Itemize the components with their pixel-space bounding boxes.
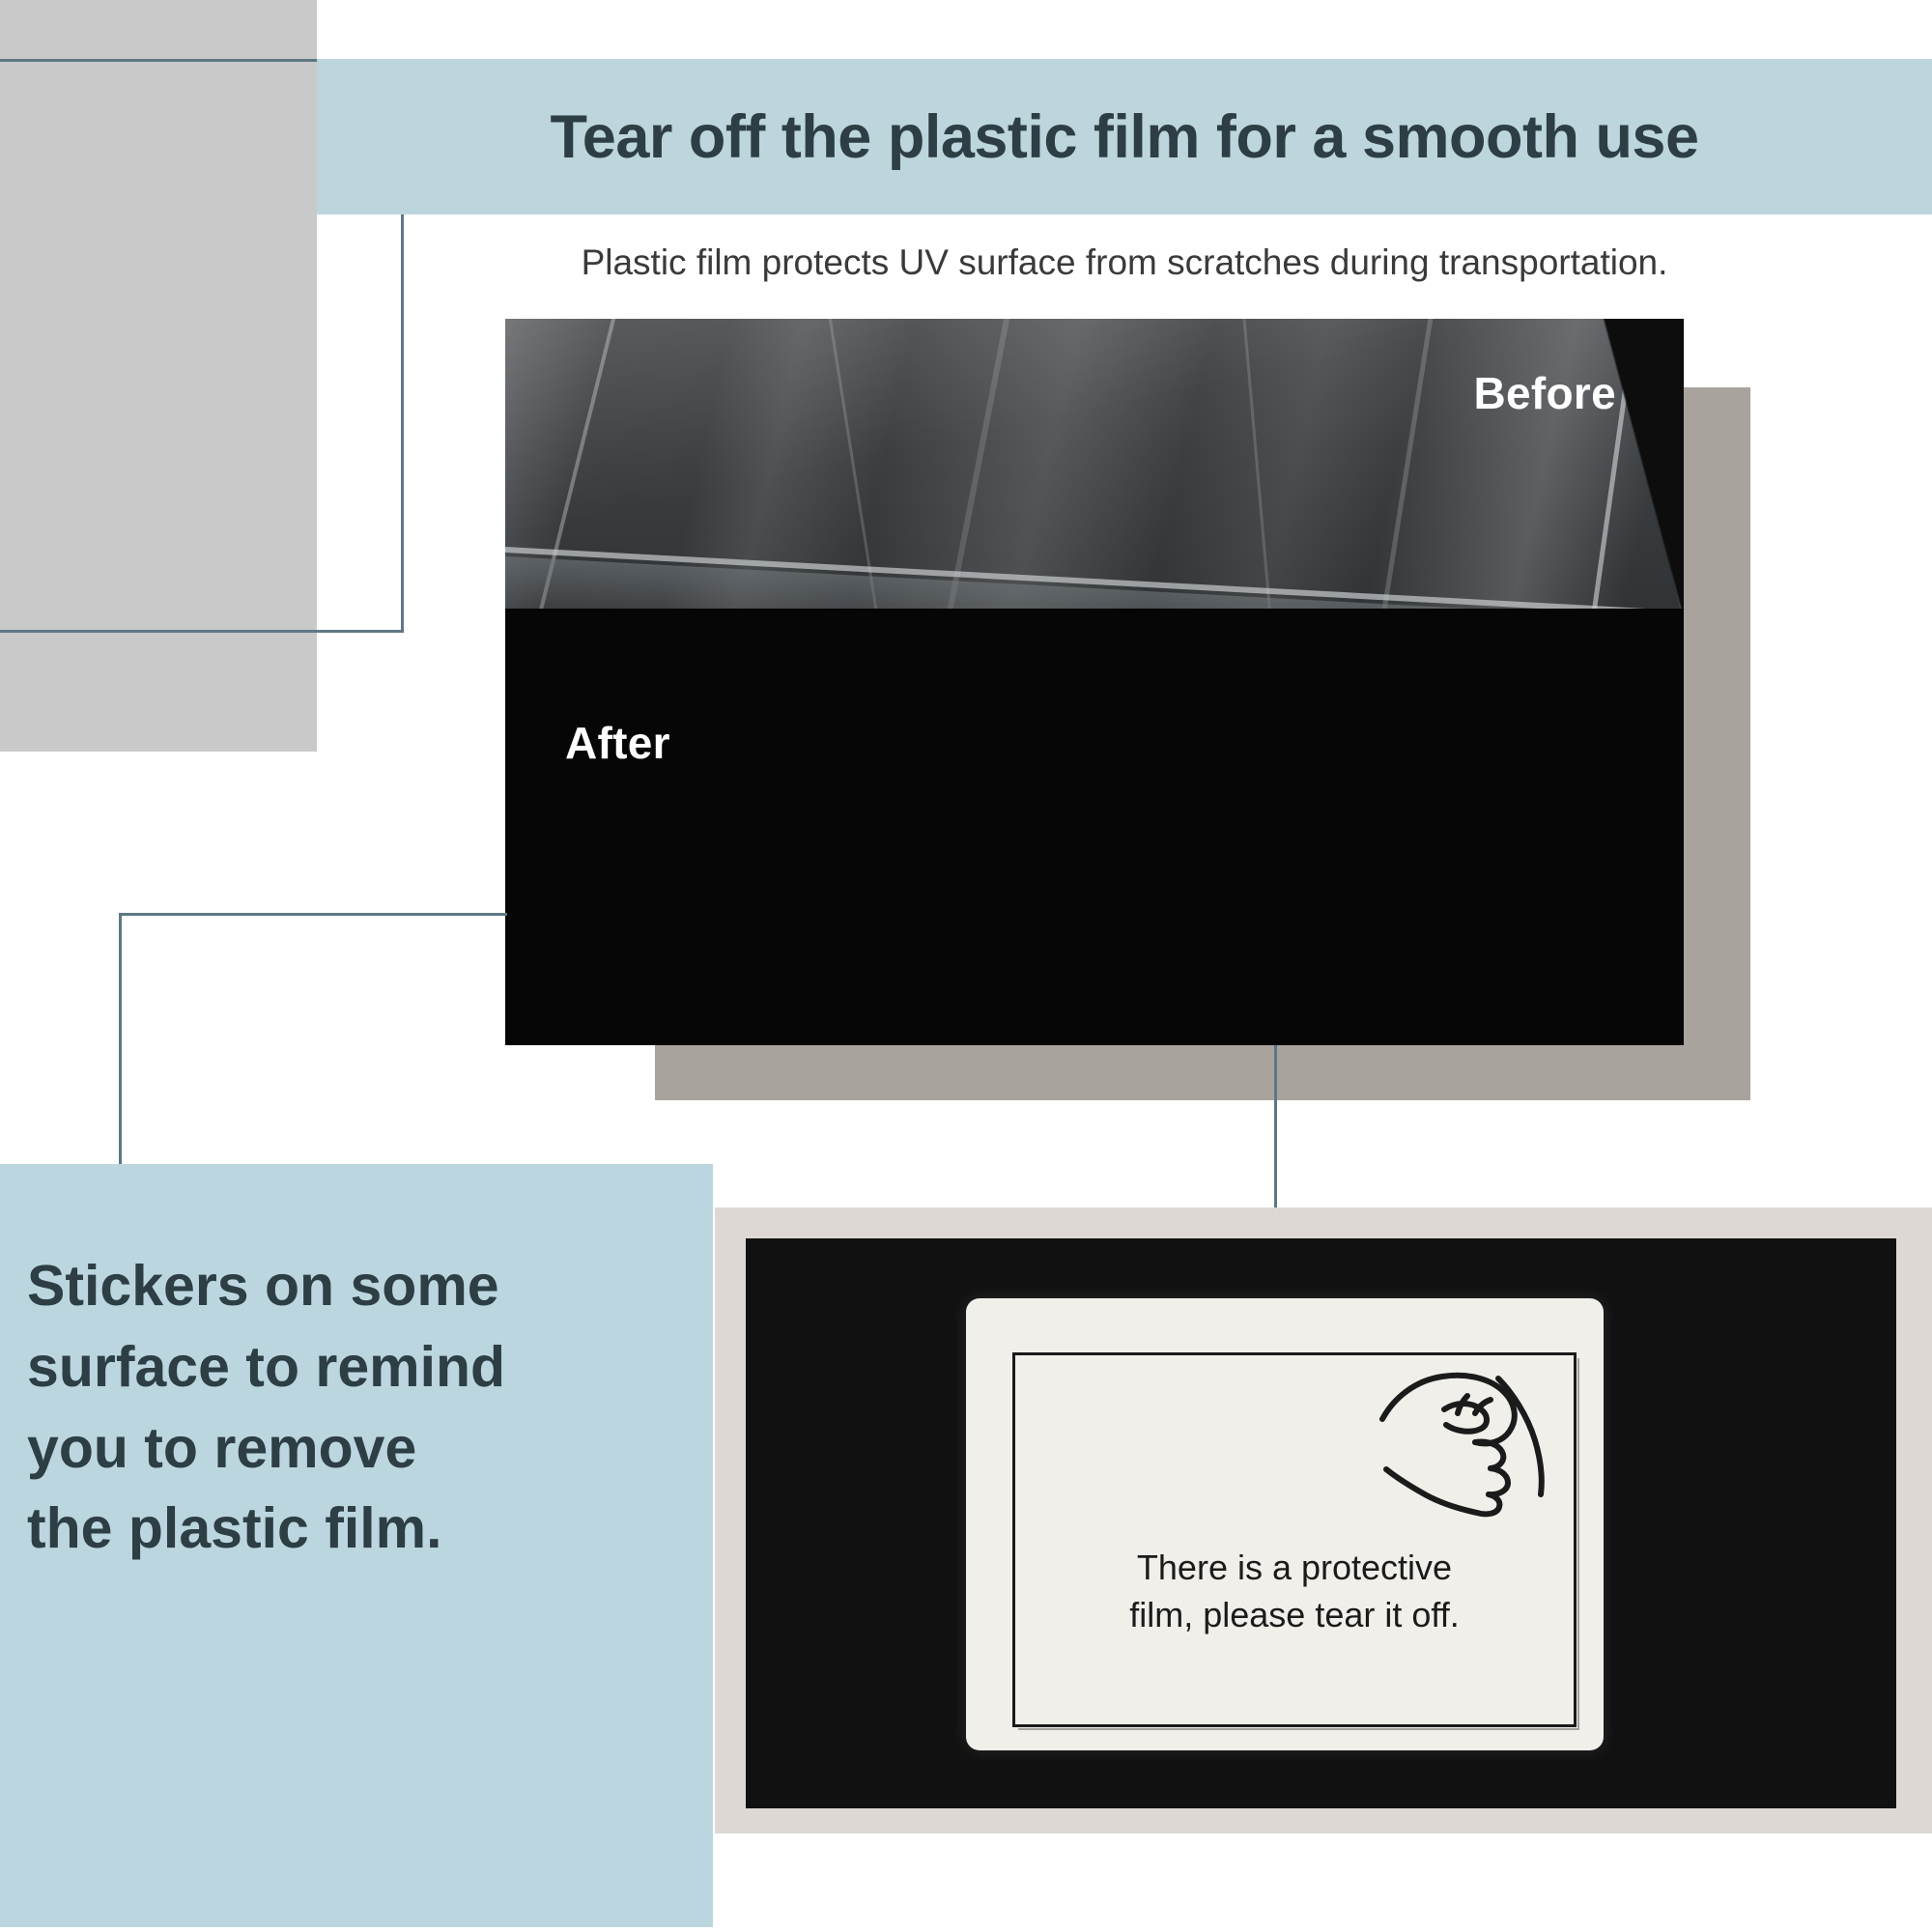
before-after-photo: Before After xyxy=(505,319,1684,1045)
after-label: After xyxy=(565,717,670,769)
sticker-photo: There is a protective film, please tear … xyxy=(746,1238,1896,1808)
connector-line-horizontal xyxy=(119,913,507,916)
callout-line-4: the plastic film. xyxy=(27,1489,694,1570)
before-label: Before xyxy=(1473,367,1616,419)
callout-line-2: surface to remind xyxy=(27,1327,694,1408)
page-subtitle: Plastic film protects UV surface from sc… xyxy=(317,224,1932,301)
clean-uv-surface xyxy=(505,609,1684,1045)
sticker-text-line-2: film, please tear it off. xyxy=(1015,1592,1574,1639)
sticker-warning-text: There is a protective film, please tear … xyxy=(1015,1545,1574,1639)
callout-line-1: Stickers on some xyxy=(27,1246,694,1327)
connector-line-vertical-left xyxy=(119,913,122,1166)
infographic-canvas: Tear off the plastic film for a smooth u… xyxy=(0,0,1932,1932)
sticker-inner-border: There is a protective film, please tear … xyxy=(1012,1352,1577,1727)
hand-peeling-film-icon xyxy=(1375,1359,1568,1533)
connector-line-vertical-right xyxy=(1274,1045,1277,1209)
callout-line-3: you to remove xyxy=(27,1408,694,1490)
page-title: Tear off the plastic film for a smooth u… xyxy=(317,59,1932,214)
callout-text: Stickers on some surface to remind you t… xyxy=(27,1246,694,1570)
sticker-text-line-1: There is a protective xyxy=(1015,1545,1574,1592)
warning-sticker: There is a protective film, please tear … xyxy=(966,1298,1604,1750)
photo-dark-corner xyxy=(1529,319,1684,609)
